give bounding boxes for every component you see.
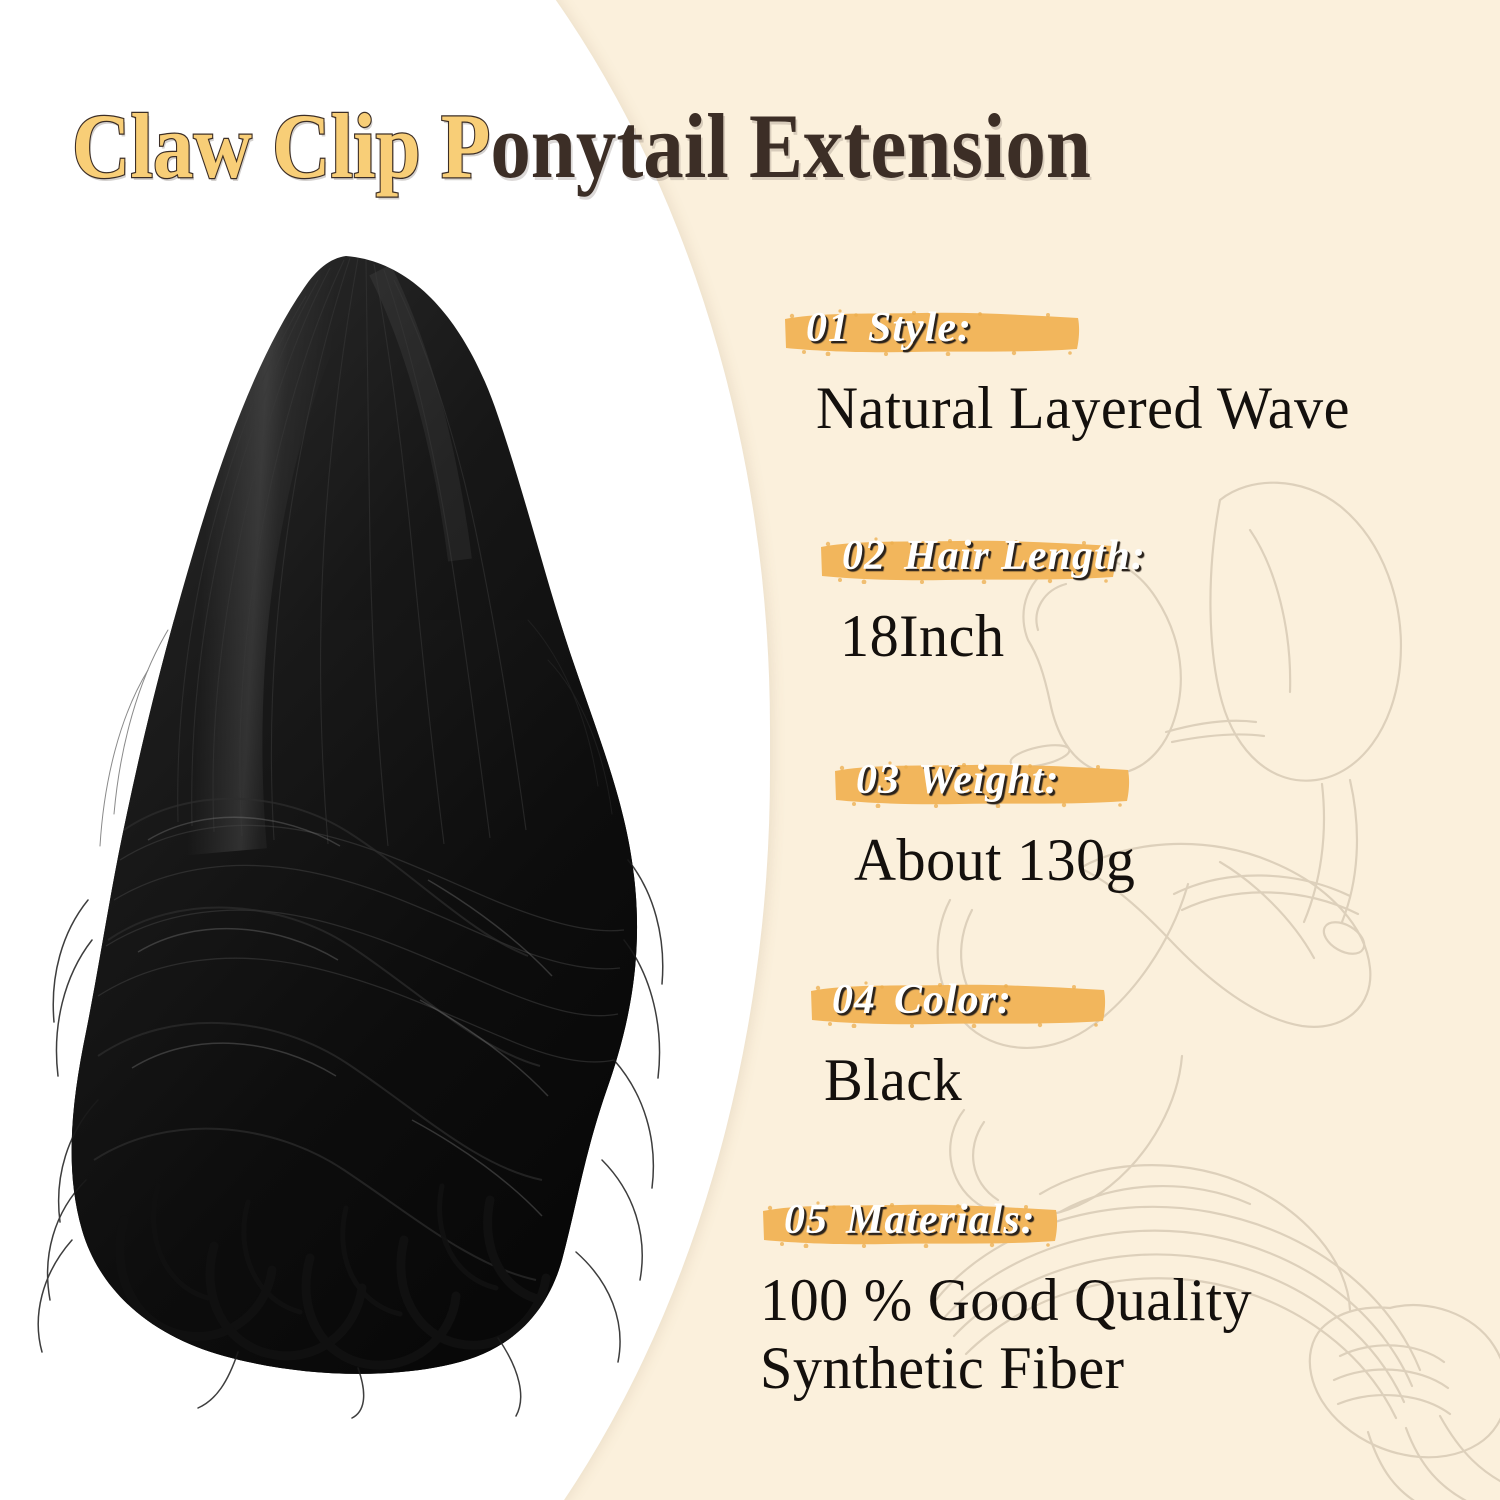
- spec-number: 01: [806, 305, 850, 351]
- spec-item-hair-length: 02Hair Length: 18Inch: [818, 528, 1172, 670]
- spec-item-weight: 03Weight: About 130g: [832, 752, 1144, 894]
- spec-value-materials: 100 % Good Quality Synthetic Fiber: [760, 1266, 1252, 1403]
- spec-label-weight: 03Weight:: [832, 752, 1086, 810]
- spec-item-style: 01Style: Natural Layered Wave: [782, 300, 1366, 442]
- spec-key: Style:: [868, 305, 972, 351]
- spec-label-style: 01Style:: [782, 300, 998, 358]
- spec-value-color: Black: [824, 1046, 1032, 1114]
- hair-extension-illustration: [28, 240, 688, 1420]
- product-infographic: Claw Clip Ponytail Extension 01Style:: [0, 0, 1500, 1500]
- page-title-dark-part: onytail Extension: [490, 95, 1091, 197]
- spec-number: 04: [832, 977, 876, 1023]
- spec-label-hair-length: 02Hair Length:: [818, 528, 1172, 586]
- product-image-ponytail-extension: [28, 240, 688, 1420]
- page-title: Claw Clip Ponytail Extension: [72, 100, 1091, 192]
- spec-value-hair-length: 18Inch: [840, 602, 1162, 670]
- spec-value-line1: Natural Layered Wave: [816, 375, 1350, 441]
- spec-item-color: 04Color: Black: [808, 972, 1038, 1114]
- spec-label-materials: 05Materials:: [760, 1192, 1062, 1250]
- spec-list: 01Style: Natural Layered Wave: [760, 300, 1500, 1460]
- spec-key: Weight:: [918, 757, 1060, 803]
- spec-value-line2: Synthetic Fiber: [760, 1334, 1252, 1402]
- spec-value-line1: 18Inch: [840, 603, 1005, 669]
- page-title-gold-part: Claw Clip P: [72, 95, 490, 197]
- spec-value-line1: 100 % Good Quality: [760, 1267, 1252, 1333]
- spec-key: Color:: [894, 977, 1012, 1023]
- spec-label-color: 04Color:: [808, 972, 1038, 1030]
- spec-number: 02: [842, 533, 886, 579]
- spec-item-materials: 05Materials: 100 % Good Quality Syntheti…: [760, 1192, 1267, 1403]
- spec-value-line1: Black: [824, 1047, 962, 1113]
- spec-key: Materials:: [846, 1197, 1036, 1243]
- spec-value-weight: About 130g: [854, 826, 1135, 894]
- spec-value-style: Natural Layered Wave: [816, 374, 1350, 442]
- spec-number: 05: [784, 1197, 828, 1243]
- spec-key: Hair Length:: [904, 533, 1146, 579]
- spec-number: 03: [856, 757, 900, 803]
- spec-value-line1: About 130g: [854, 827, 1135, 893]
